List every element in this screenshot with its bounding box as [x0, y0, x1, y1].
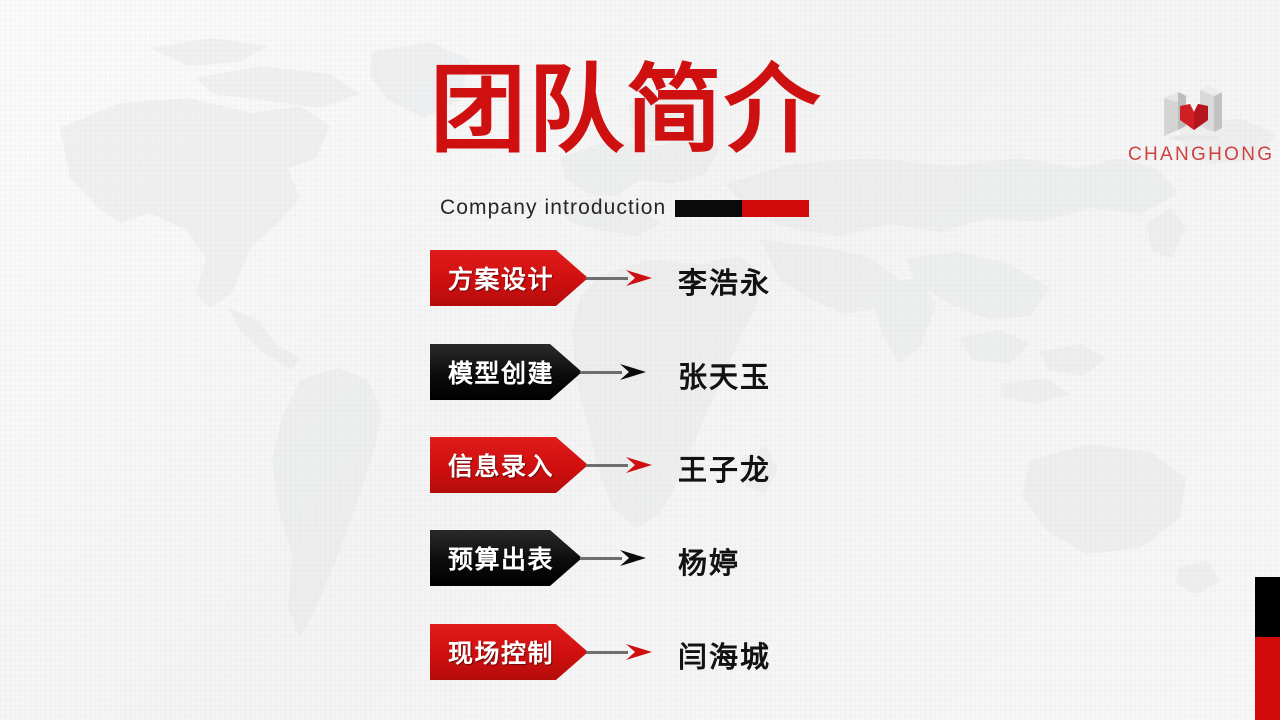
role-banner[interactable]: 模型创建	[430, 344, 582, 400]
slide-canvas: 团队简介 Company introduction CHANGHONG 方案设计…	[0, 0, 1280, 720]
accent-bar-red-segment	[742, 200, 809, 217]
role-label: 信息录入	[448, 447, 554, 483]
arrow-right-icon	[580, 550, 656, 566]
role-label: 模型创建	[448, 354, 554, 390]
arrow-shaft	[580, 557, 622, 560]
arrow-shaft	[586, 464, 628, 467]
title-accent-bar	[675, 200, 809, 217]
arrow-head	[620, 550, 646, 566]
role-banner[interactable]: 现场控制	[430, 624, 588, 680]
accent-bar-black-segment	[675, 200, 742, 217]
role-banner[interactable]: 预算出表	[430, 530, 582, 586]
role-person-name: 王子龙	[678, 447, 771, 489]
role-banner[interactable]: 方案设计	[430, 250, 588, 306]
changhong-logo-mark	[1128, 86, 1258, 142]
role-label: 方案设计	[448, 260, 554, 296]
page-title: 团队简介	[430, 58, 822, 162]
role-person-name: 李浩永	[678, 260, 771, 302]
role-person-name: 张天玉	[678, 354, 771, 396]
arrow-shaft	[586, 277, 628, 280]
edge-accent-red	[1255, 637, 1280, 720]
arrow-right-icon	[586, 270, 662, 286]
arrow-right-icon	[586, 644, 662, 660]
role-banner[interactable]: 信息录入	[430, 437, 588, 493]
role-person-name: 杨婷	[678, 540, 740, 582]
right-edge-accent-bar	[1255, 577, 1280, 720]
page-subtitle: Company introduction	[440, 196, 666, 220]
arrow-shaft	[580, 371, 622, 374]
arrow-head	[626, 270, 652, 286]
arrow-head	[626, 644, 652, 660]
brand-name: CHANGHONG	[1128, 144, 1258, 166]
arrow-shaft	[586, 651, 628, 654]
edge-accent-black	[1255, 577, 1280, 637]
arrow-head	[626, 457, 652, 473]
arrow-right-icon	[586, 457, 662, 473]
brand-logo: CHANGHONG	[1128, 86, 1258, 166]
role-person-name: 闫海城	[678, 634, 771, 676]
role-label: 现场控制	[448, 634, 554, 670]
arrow-head	[620, 364, 646, 380]
arrow-right-icon	[580, 364, 656, 380]
role-label: 预算出表	[448, 540, 554, 576]
